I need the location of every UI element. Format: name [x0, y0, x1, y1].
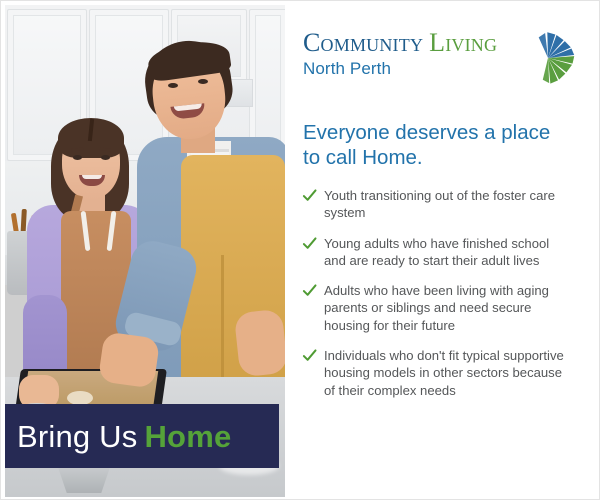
banner-text-white: Bring Us [17, 419, 137, 454]
logo-subtitle: North Perth [303, 59, 497, 79]
check-icon [302, 236, 317, 251]
logo-word-community: Community [303, 28, 423, 57]
page-title: Everyone deserves a place to call Home. [303, 120, 563, 170]
list-item: Young adults who have finished school an… [302, 235, 568, 270]
list-item-label: Individuals who don't fit typical suppor… [324, 348, 564, 398]
dough-ball [67, 391, 93, 405]
promotional-card: Bring UsHome CommunityLiving North Perth [0, 0, 600, 500]
banner-text: Bring UsHome [5, 421, 231, 452]
list-item: Adults who have been living with aging p… [302, 282, 568, 334]
list-item-label: Young adults who have finished school an… [324, 236, 549, 268]
list-item: Youth transitioning out of the foster ca… [302, 187, 568, 222]
bring-us-home-banner: Bring UsHome [5, 404, 279, 468]
check-icon [302, 348, 317, 363]
boy-left-hand [98, 331, 160, 388]
logo-primary-line: CommunityLiving [303, 28, 497, 58]
girl-eye [73, 155, 82, 160]
content-panel: CommunityLiving North Perth [290, 6, 595, 496]
list-item: Individuals who don't fit typical suppor… [302, 347, 568, 399]
logo-word-living: Living [423, 28, 497, 57]
boy-eye [198, 79, 208, 84]
list-item-label: Adults who have been living with aging p… [324, 283, 549, 333]
diamond-rays-logo-mark [520, 30, 576, 86]
apron-fold [221, 255, 224, 385]
banner-text-green: Home [137, 419, 231, 454]
organization-logo[interactable]: CommunityLiving North Perth [298, 28, 581, 100]
check-icon [302, 283, 317, 298]
logo-wordmark: CommunityLiving North Perth [303, 28, 497, 79]
girl-teeth [82, 175, 102, 179]
girl-eye [101, 155, 110, 160]
eligibility-list: Youth transitioning out of the foster ca… [302, 187, 581, 399]
boy-right-hand [234, 309, 285, 378]
boy-eye [168, 83, 178, 88]
check-icon [302, 188, 317, 203]
list-item-label: Youth transitioning out of the foster ca… [324, 188, 555, 220]
